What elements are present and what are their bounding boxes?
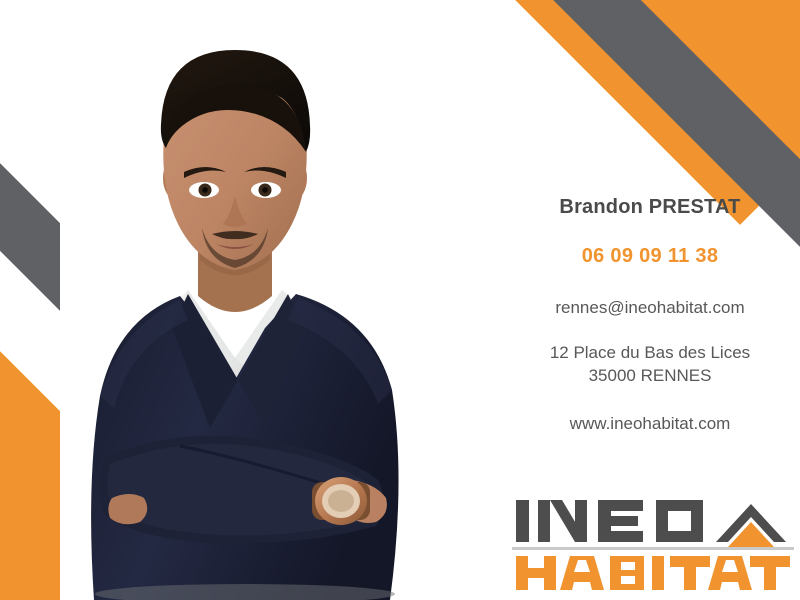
company-logo [512,492,794,592]
roof-chevron-icon [716,504,786,547]
contact-name: Brandon PRESTAT [500,196,800,219]
contact-block: Brandon PRESTAT 06 09 09 11 38 rennes@in… [500,196,800,434]
wristwatch [312,477,370,525]
logo-divider [512,547,794,550]
logo-ineo-text [516,500,703,542]
logo-habitat-text [516,556,790,590]
business-card: Brandon PRESTAT 06 09 09 11 38 rennes@in… [0,0,800,600]
contact-address-line2: 35000 RENNES [500,365,800,388]
contact-address-line1: 12 Place du Bas des Lices [500,342,800,365]
contact-phone[interactable]: 06 09 09 11 38 [500,245,800,268]
contact-website[interactable]: www.ineohabitat.com [500,414,800,434]
portrait-photo [60,28,510,600]
contact-email[interactable]: rennes@ineohabitat.com [500,298,800,318]
contact-address: 12 Place du Bas des Lices 35000 RENNES [500,342,800,388]
